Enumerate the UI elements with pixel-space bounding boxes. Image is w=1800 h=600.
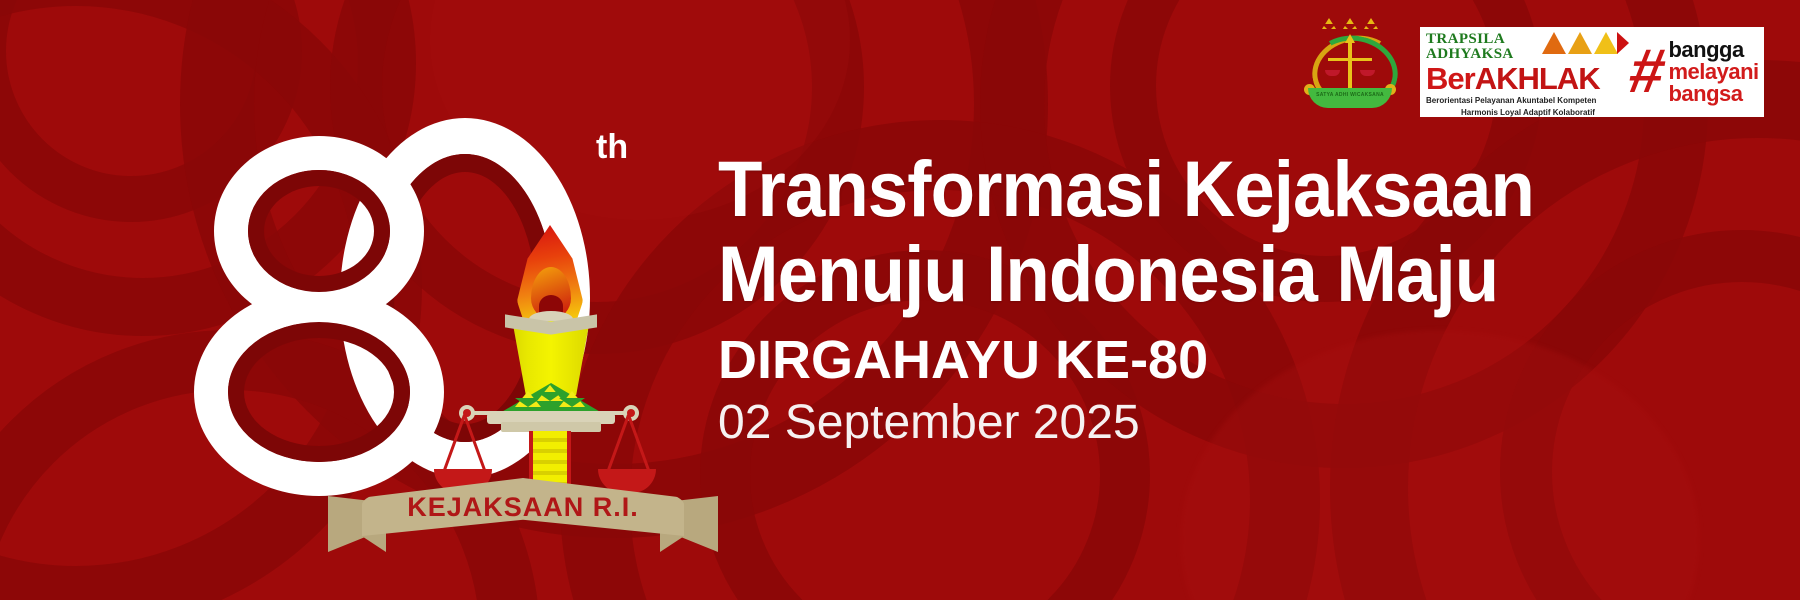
hashtag-icon: # — [1625, 41, 1670, 103]
anniversary-superscript: th — [596, 128, 628, 167]
emblem-sword — [1348, 40, 1352, 95]
berakhlak-akhlak: AKHLAK — [1475, 61, 1600, 96]
eight-bottom-inner — [228, 322, 410, 462]
anniversary-banner: KEJAKSAAN R.I. th SATYA ADHI WICAKSANA T… — [0, 0, 1800, 600]
berakhlak-ber: Ber — [1426, 61, 1475, 96]
numeral-eight — [172, 118, 422, 478]
headline-date: 02 September 2025 — [718, 394, 1738, 452]
bangga-tagline: bangga melayani bangsa — [1668, 39, 1758, 105]
eight-top-inner — [248, 170, 390, 292]
headline-line-2: Menuju Indonesia Maju — [718, 231, 1656, 316]
headline-line-1: Transformasi Kejaksaan — [718, 146, 1656, 231]
tagline-melayani: melayani — [1668, 61, 1758, 83]
anniversary-80-logo: KEJAKSAAN R.I. — [150, 100, 600, 500]
berakhlak-logo-box: TRAPSILA ADHYAKSA BerAKHLAK Berorientasi… — [1420, 27, 1764, 117]
chevron-group-icon — [1542, 32, 1629, 54]
chevron-arrow-icon — [1617, 32, 1629, 54]
chevron-icon-1 — [1542, 32, 1566, 54]
kejaksaan-ri-emblem: SATYA ADHI WICAKSANA — [1300, 18, 1400, 110]
chevron-icon-3 — [1594, 32, 1618, 54]
pediment-chevron-3 — [559, 391, 585, 407]
emblem-motto-ribbon: SATYA ADHI WICAKSANA — [1308, 88, 1392, 108]
berakhlak-values-line-1: Berorientasi Pelayanan Akuntabel Kompete… — [1426, 96, 1630, 106]
emblem-motto-text: SATYA ADHI WICAKSANA — [1308, 92, 1392, 98]
berakhlak-values-line-2: Harmonis Loyal Adaptif Kolaboratif — [1426, 108, 1630, 118]
headline-block: Transformasi Kejaksaan Menuju Indonesia … — [718, 146, 1738, 452]
berakhlak-wordmark: BerAKHLAK — [1426, 63, 1630, 94]
torch-icon — [485, 225, 615, 515]
emblem-star-3 — [1364, 18, 1378, 29]
ribbon-label: KEJAKSAAN R.I. — [362, 478, 684, 536]
kejaksaan-ribbon: KEJAKSAAN R.I. — [328, 478, 718, 544]
tagline-bangga: bangga — [1668, 39, 1758, 61]
berakhlak-left-panel: TRAPSILA ADHYAKSA BerAKHLAK Berorientasi… — [1420, 27, 1630, 117]
emblem-scale-beam — [1328, 58, 1372, 61]
headline-subtitle: DIRGAHAYU KE-80 — [718, 328, 1738, 392]
emblem-star-1 — [1322, 18, 1336, 29]
chevron-icon-2 — [1568, 32, 1592, 54]
tagline-bangsa: bangsa — [1668, 83, 1758, 105]
emblem-star-2 — [1343, 18, 1357, 29]
bangga-melayani-bangsa-panel: # bangga melayani bangsa — [1630, 27, 1764, 117]
